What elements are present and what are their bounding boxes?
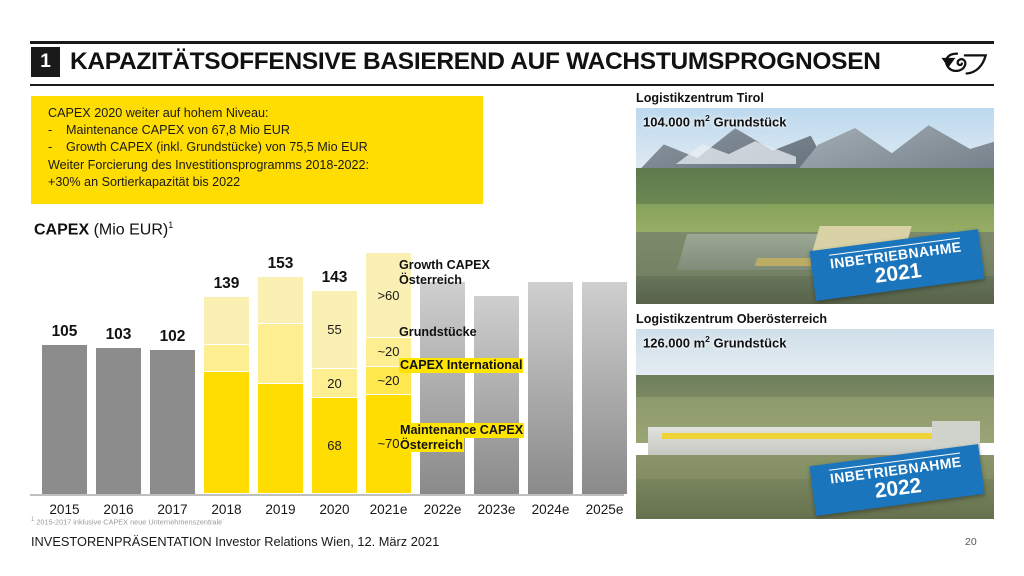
bar-segment-grundst-cke: 20 <box>312 369 357 397</box>
bar-segment-value: 55 <box>327 322 341 337</box>
legend-item-growth-capex: Growth CAPEXÖsterreich <box>399 258 490 287</box>
bar-column-2025e <box>582 282 627 494</box>
legend-label-line1: Grundstücke <box>399 325 477 340</box>
slide-number-badge: 1 <box>31 47 60 77</box>
legend-label-line2: Österreich <box>399 273 490 288</box>
footnote-text: 2015-2017 inklusive CAPEX neue Unternehm… <box>36 517 222 526</box>
legend-label-line2: Österreich <box>399 438 464 453</box>
photo-area-suffix: Grundstück <box>710 114 787 129</box>
bar-segment-growth-capex-sterreich <box>258 277 303 324</box>
bar-segment-gray <box>420 282 465 494</box>
photo-caption-oberoesterreich: Logistikzentrum Oberösterreich <box>636 312 827 326</box>
bar-segment-maintenance-capex-sterreich <box>258 384 303 494</box>
bar-segment-gray <box>42 345 87 494</box>
bar-segment-value: ~20 <box>377 373 399 388</box>
callout-line-3: -Growth CAPEX (inkl. Grundstücke) von 75… <box>48 139 483 156</box>
banner-year: 2021 <box>874 259 923 287</box>
legend-item-maintenance-capex: Maintenance CAPEXÖsterreich <box>399 423 524 452</box>
bar-column-2015 <box>42 345 87 494</box>
bar-total-2017: 102 <box>138 328 208 346</box>
x-axis-label-2022e: 2022e <box>414 502 472 517</box>
bar-segment-value: ~70 <box>377 436 399 451</box>
footnote-marker: 1 <box>31 517 34 523</box>
bullet-dash: - <box>48 139 66 156</box>
bar-segment-gray <box>96 348 141 494</box>
photo-area-label-oberoesterreich: 126.000 m2 Grundstück <box>643 334 786 350</box>
header-rule-top <box>30 41 994 44</box>
bar-segment-value: 68 <box>327 438 341 453</box>
capex-callout-box: CAPEX 2020 weiter auf hohem Niveau: -Mai… <box>31 96 483 204</box>
bar-column-2016 <box>96 348 141 494</box>
bar-column-2023e <box>474 296 519 494</box>
bar-segment-maintenance-capex-sterreich: 68 <box>312 398 357 494</box>
x-axis-label-2020: 2020 <box>306 502 364 517</box>
legend-item-grundst-cke: Grundstücke <box>399 325 477 340</box>
x-axis-label-2021e: 2021e <box>360 502 418 517</box>
photo-area-label-tirol: 104.000 m2 Grundstück <box>643 113 786 129</box>
bar-column-2021e: >60~20~20~70 <box>366 253 411 494</box>
photo-area-value: 104.000 m <box>643 114 705 129</box>
bar-segment-value: ~20 <box>377 344 399 359</box>
bar-segment-gray <box>528 282 573 494</box>
callout-line-3-text: Growth CAPEX (inkl. Grundstücke) von 75,… <box>66 140 368 154</box>
bar-column-2017 <box>150 350 195 494</box>
bar-column-2020: 552068 <box>312 291 357 494</box>
bar-column-2022e <box>420 282 465 494</box>
chart-footnote: 1 2015-2017 inklusive CAPEX neue Unterne… <box>31 517 222 526</box>
bar-column-2019 <box>258 277 303 494</box>
bar-segment-grundst-cke <box>204 345 249 372</box>
x-axis-label-2017: 2017 <box>144 502 202 517</box>
callout-line-5: +30% an Sortierkapazität bis 2022 <box>48 174 483 191</box>
bar-total-2018: 139 <box>192 275 262 293</box>
callout-line-1: CAPEX 2020 weiter auf hohem Niveau: <box>48 105 483 122</box>
legend-label-line1: CAPEX International <box>399 358 523 373</box>
callout-line-2: -Maintenance CAPEX von 67,8 Mio EUR <box>48 122 483 139</box>
bar-segment-grundst-cke <box>258 324 303 383</box>
chart-title-footnote-marker: 1 <box>168 220 173 230</box>
photo-oberoesterreich: 126.000 m2 Grundstück INBETRIEBNAHME 202… <box>636 329 994 519</box>
callout-line-2-text: Maintenance CAPEX von 67,8 Mio EUR <box>66 123 290 137</box>
legend-label-line1: Growth CAPEX <box>399 258 490 273</box>
x-axis-label-2018: 2018 <box>198 502 256 517</box>
bar-total-2020: 143 <box>300 269 370 287</box>
slide-root: 1 KAPAZITÄTSOFFENSIVE BASIEREND AUF WACH… <box>0 0 1024 576</box>
bar-column-2024e <box>528 282 573 494</box>
x-axis-label-2025e: 2025e <box>576 502 634 517</box>
header-rule-bottom <box>30 84 994 86</box>
bar-column-2018 <box>204 297 249 494</box>
bar-segment-value: 20 <box>327 376 341 391</box>
photo-caption-tirol: Logistikzentrum Tirol <box>636 91 764 105</box>
chart-baseline-axis <box>30 494 624 496</box>
bar-segment-gray <box>474 296 519 494</box>
footer-text: INVESTORENPRÄSENTATION Investor Relation… <box>31 534 439 549</box>
bar-segment-value: >60 <box>377 288 399 303</box>
bar-segment-gray <box>150 350 195 494</box>
photo-area-value: 126.000 m <box>643 335 705 350</box>
legend-label-line1: Maintenance CAPEX <box>399 423 524 438</box>
x-axis-label-2015: 2015 <box>36 502 94 517</box>
bar-segment-growth-capex-sterreich: 55 <box>312 291 357 369</box>
bullet-dash: - <box>48 122 66 139</box>
x-axis-label-2024e: 2024e <box>522 502 580 517</box>
callout-line-4: Weiter Forcierung des Investitionsprogra… <box>48 157 483 174</box>
photo-tirol: 104.000 m2 Grundstück INBETRIEBNAHME 202… <box>636 108 994 304</box>
bar-segment-gray <box>582 282 627 494</box>
legend-item-capex-international: CAPEX International <box>399 358 523 373</box>
x-axis-label-2023e: 2023e <box>468 502 526 517</box>
page-title: KAPAZITÄTSOFFENSIVE BASIEREND AUF WACHST… <box>70 48 881 76</box>
banner-year: 2022 <box>874 474 923 502</box>
bar-segment-maintenance-capex-sterreich <box>204 372 249 494</box>
photo-yellow-facade-stripe <box>662 433 954 439</box>
page-number: 20 <box>965 536 977 548</box>
x-axis-label-2019: 2019 <box>252 502 310 517</box>
photo-area-suffix: Grundstück <box>710 335 787 350</box>
x-axis-label-2016: 2016 <box>90 502 148 517</box>
austrian-post-horn-logo <box>938 50 990 78</box>
bar-segment-growth-capex-sterreich <box>204 297 249 345</box>
